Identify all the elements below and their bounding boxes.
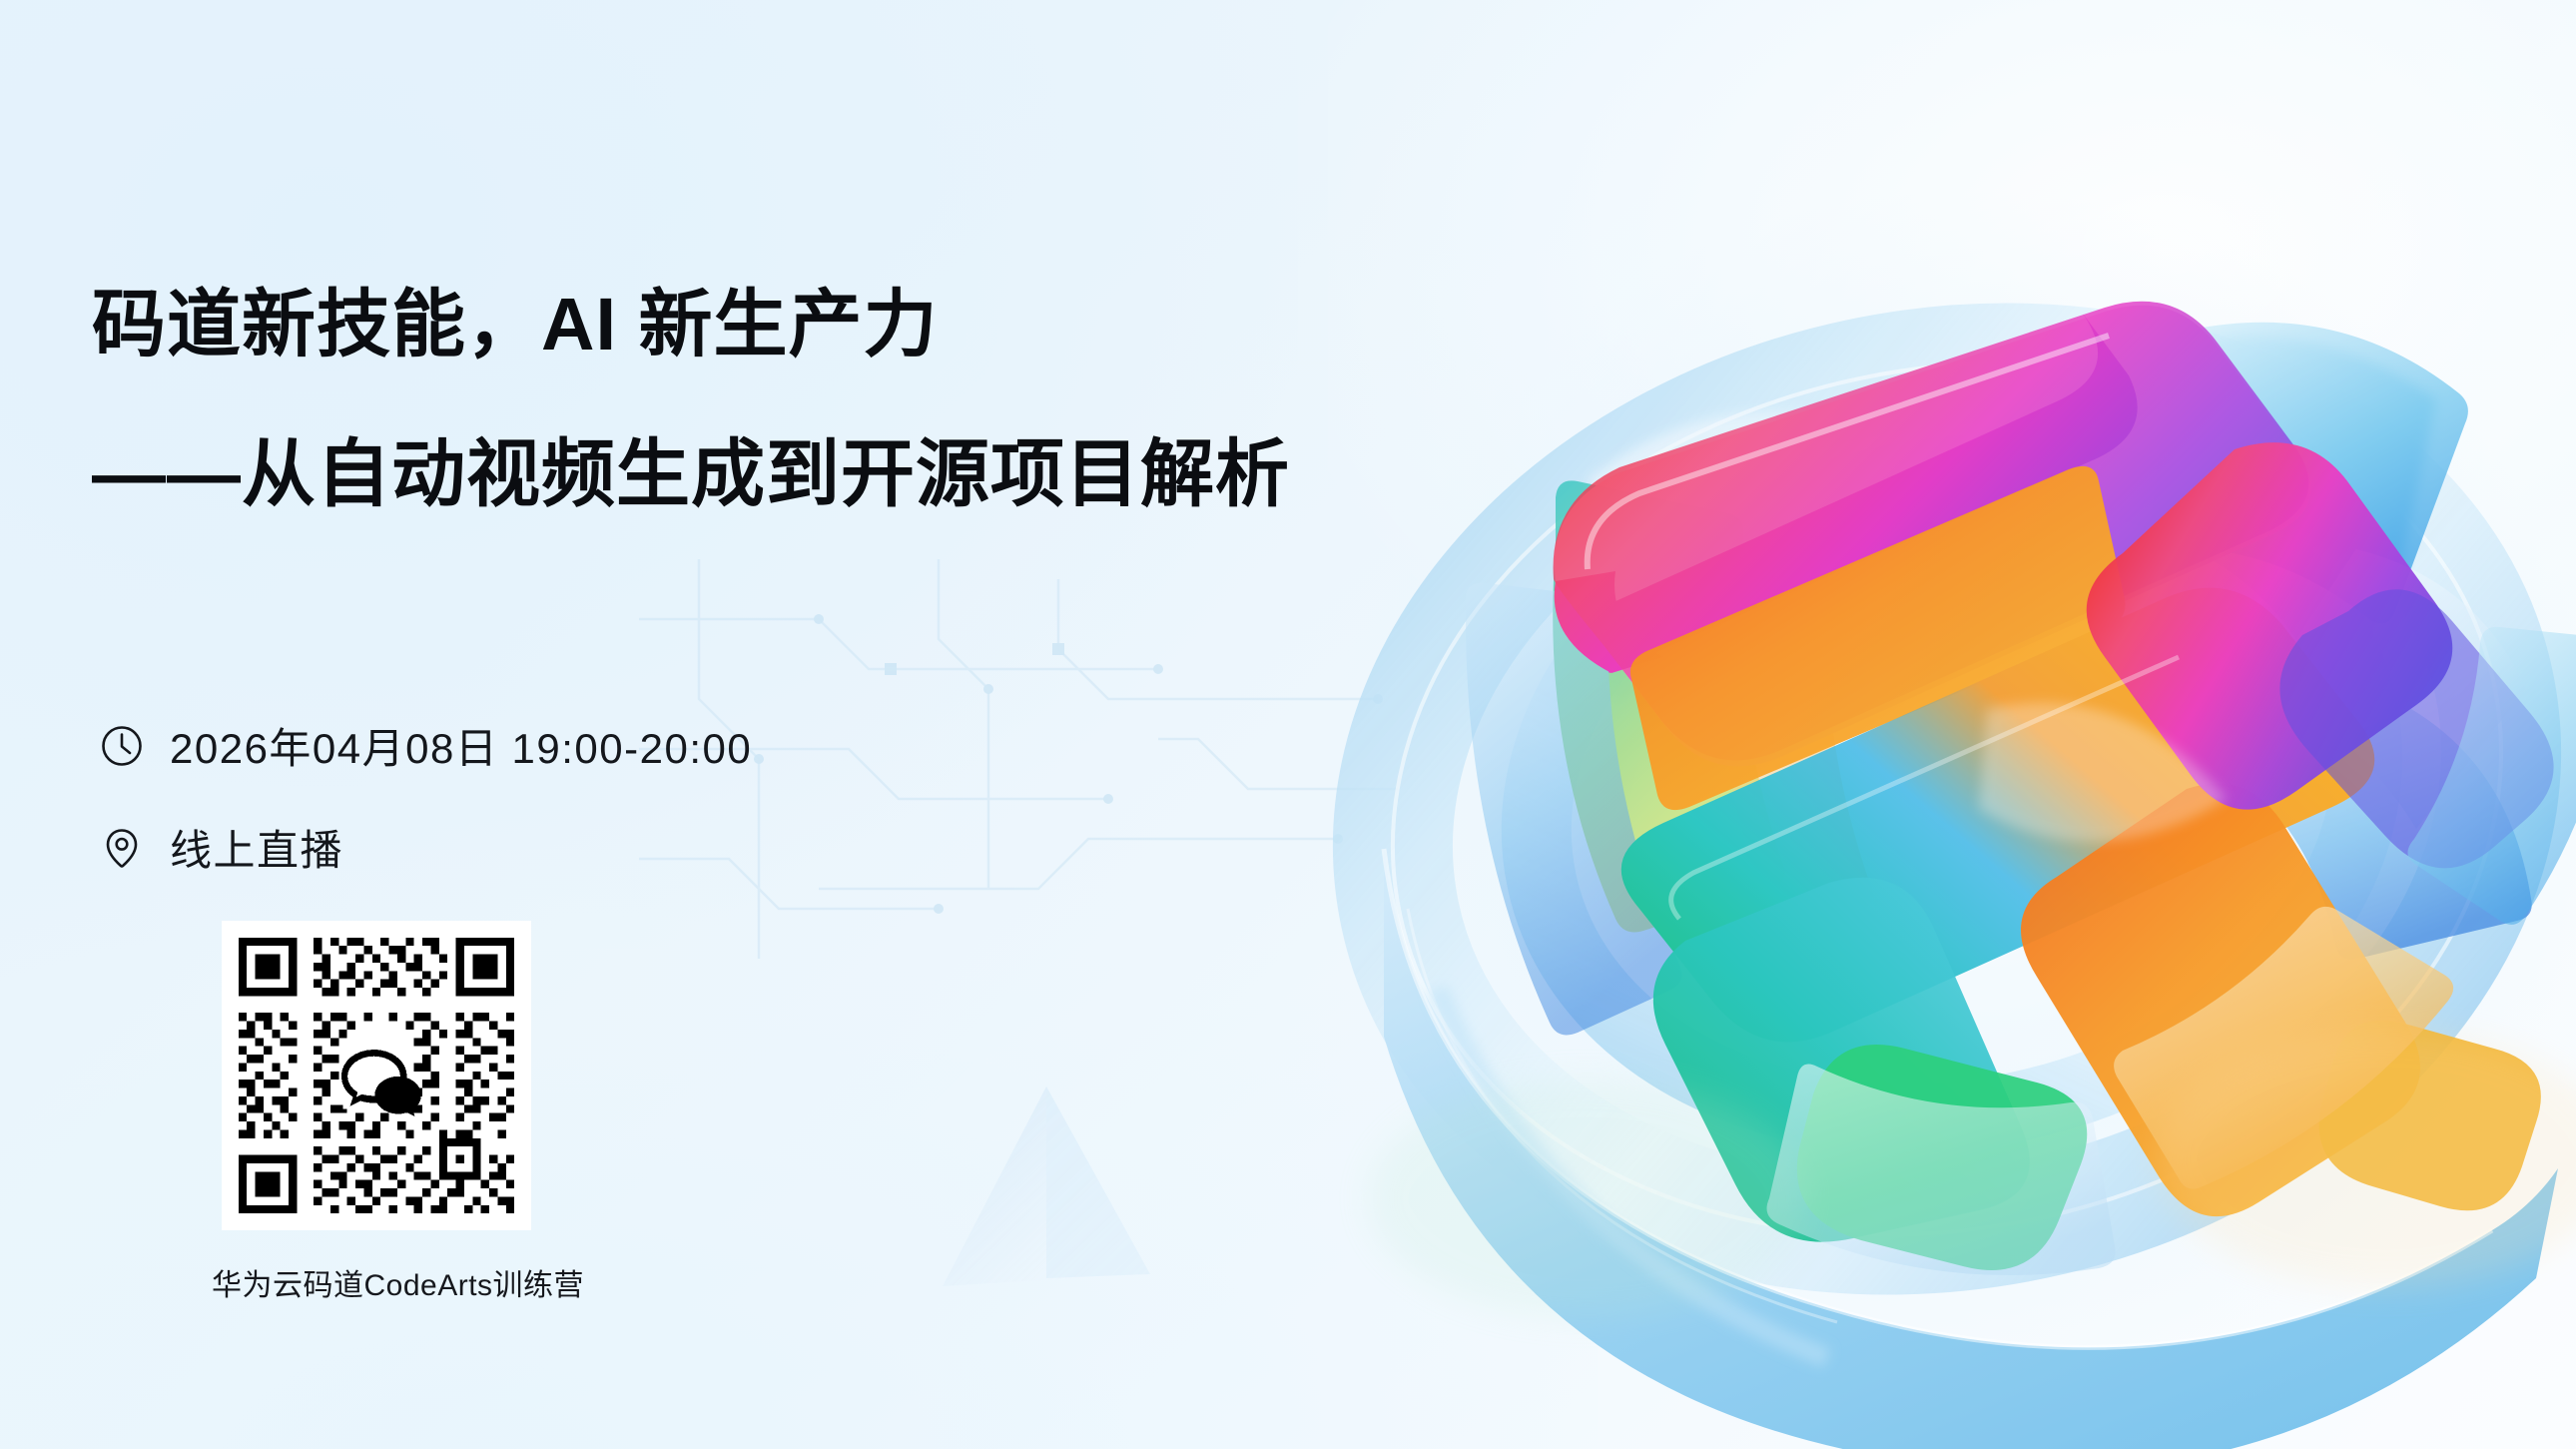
event-datetime-row: 2026年04月08日 19:00-20:00 <box>100 715 752 776</box>
headline-line-1: 码道新技能，AI 新生产力 <box>92 288 939 362</box>
poster-content: 码道新技能，AI 新生产力 ——从自动视频生成到开源项目解析 2026年04月0… <box>92 0 1590 1449</box>
clock-icon <box>100 724 144 768</box>
event-location-row: 线上直播 <box>100 817 343 878</box>
promo-poster: 码道新技能，AI 新生产力 ——从自动视频生成到开源项目解析 2026年04月0… <box>0 0 2576 1449</box>
event-datetime-text: 2026年04月08日 19:00-20:00 <box>170 715 752 776</box>
headline-line-2: ——从自动视频生成到开源项目解析 <box>92 437 1290 511</box>
wechat-chat-icon <box>341 1042 421 1115</box>
location-pin-icon <box>100 826 144 870</box>
event-location-text: 线上直播 <box>170 817 343 878</box>
qr-code[interactable] <box>222 921 531 1230</box>
qr-block: 华为云码道CodeArts训练营 <box>222 921 531 1304</box>
qr-caption: 华为云码道CodeArts训练营 <box>212 1260 521 1304</box>
